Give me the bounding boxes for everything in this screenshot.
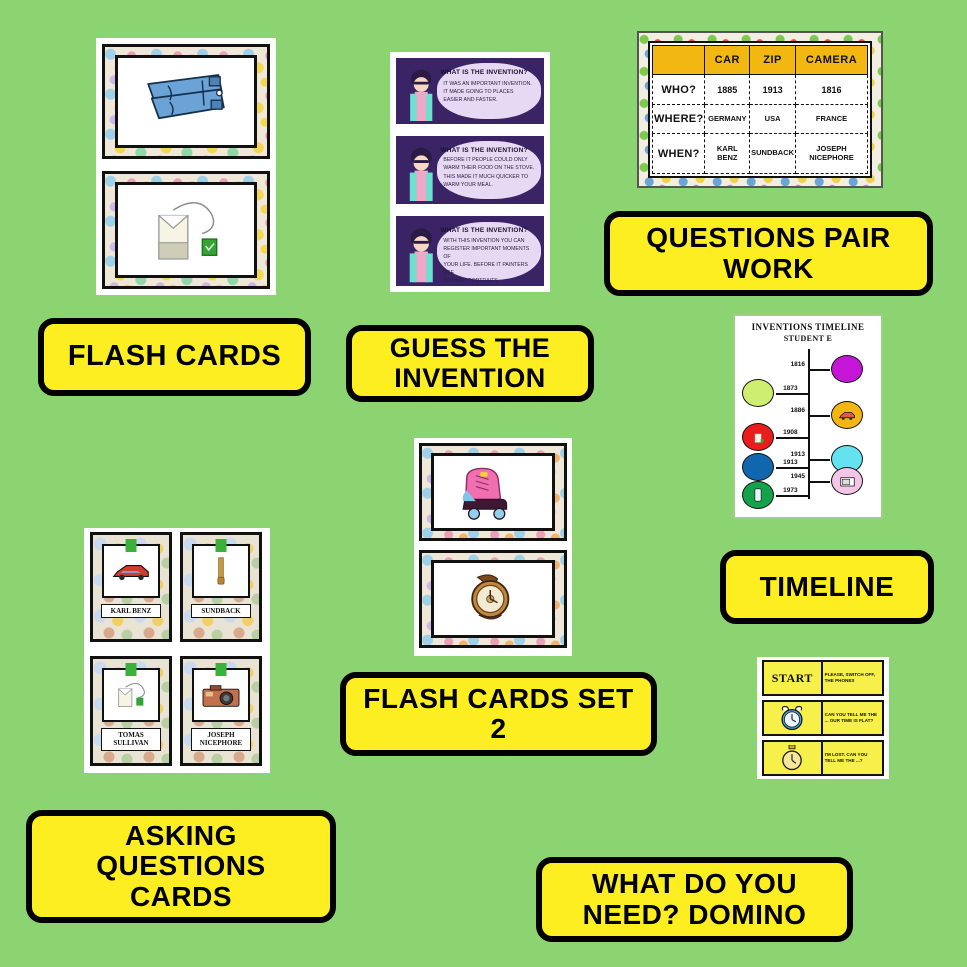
cell-when-camera: JOSEPH NICEPHORE [796, 134, 868, 174]
flash-card-jeans-image [115, 55, 257, 148]
timeline-tick [776, 393, 808, 395]
table-row: WHEN? KARL BENZ SUNDBACK JOSEPH NICEPHOR… [653, 134, 868, 174]
label-guess-invention-text: GUESS THE INVENTION [390, 334, 551, 392]
guess-card-3-heading: WHAT IS THE INVENTION? [440, 227, 538, 234]
cell-when-car: KARL BENZ [705, 134, 750, 174]
label-flash-cards-set2[interactable]: FLASH CARDS SET 2 [340, 672, 657, 756]
asking-card-karl-benz-label: KARL BENZ [101, 604, 160, 619]
camera-icon [201, 682, 241, 709]
guess-invention-sheet: WHAT IS THE INVENTION? IT WAS AN IMPORTA… [390, 52, 550, 292]
timeline-year-1886: 1886 [790, 407, 804, 414]
domino-right-watch: I'M LOST. CAN YOU TELL ME THE ...? [823, 742, 882, 774]
domino-alarm-text: CAN YOU TELL ME THE ... OUR TIME IS FLAT… [825, 712, 880, 724]
flash-card-jeans[interactable] [102, 44, 270, 159]
asking-card-sundback-label: SUNDBACK [191, 604, 250, 619]
asking-card-tomas-sullivan-image [102, 668, 160, 722]
flash-card-roller-skate[interactable] [419, 443, 567, 541]
clip-icon [126, 663, 137, 676]
row-label-when: WHEN? [653, 134, 705, 174]
asking-card-joseph-nicephore-label: JOSEPH NICEPHORE [191, 728, 250, 752]
table-row: WHO? 1885 1913 1816 [653, 75, 868, 104]
asking-questions-sheet: KARL BENZ SUNDBACK TOM [84, 528, 270, 773]
roller-skate-icon [450, 463, 536, 521]
timeline-tick [776, 495, 808, 497]
poster-canvas: WHAT IS THE INVENTION? IT WAS AN IMPORTA… [0, 0, 967, 967]
asking-card-joseph-nicephore-image [192, 668, 250, 722]
flash-card-teabag[interactable] [102, 171, 270, 289]
label-asking-questions-cards-text: ASKING QUESTIONS CARDS [96, 821, 265, 912]
wristwatch-icon [450, 570, 536, 628]
jeans-icon [127, 66, 245, 138]
table-row: WHERE? GERMANY USA FRANCE [653, 104, 868, 133]
cell-where-car: GERMANY [705, 104, 750, 133]
timeline-node-1913-left [742, 453, 774, 481]
alarm-clock-icon [778, 705, 806, 731]
scientist-icon [402, 224, 440, 283]
domino-row-start[interactable]: START PLEASE, SWITCH OFF, THE PHONES [762, 660, 884, 696]
flash-card-teabag-image [115, 182, 257, 278]
asking-card-joseph-nicephore[interactable]: JOSEPH NICEPHORE [180, 656, 262, 766]
guess-card-1-body: IT WAS AN IMPORTANT INVENTION. IT MADE G… [443, 80, 535, 104]
clip-icon [126, 539, 137, 552]
domino-row-alarm[interactable]: CAN YOU TELL ME THE ... OUR TIME IS FLAT… [762, 700, 884, 736]
cell-who-zip: 1913 [750, 75, 796, 104]
pocket-watch-icon [779, 745, 805, 771]
guess-card-2-body: BEFORE IT PEOPLE COULD ONLY WARM THEIR F… [443, 156, 535, 188]
flash-card-wristwatch[interactable] [419, 550, 567, 648]
timeline-node-1816 [831, 355, 863, 383]
guess-card-1[interactable]: WHAT IS THE INVENTION? IT WAS AN IMPORTA… [394, 56, 546, 126]
timeline-year-1816: 1816 [790, 361, 804, 368]
scientist-icon [402, 144, 440, 201]
domino-left-start: START [764, 662, 823, 694]
timeline-year-1908: 1908 [783, 429, 797, 436]
timeline-node-1873 [742, 379, 774, 407]
timeline-year-1913-right: 1913 [790, 451, 804, 458]
clip-icon [216, 539, 227, 552]
timeline-tick [808, 481, 830, 483]
label-flash-cards-text: FLASH CARDS [68, 341, 281, 372]
timeline-tick [776, 467, 808, 469]
flash-card-roller-skate-image [431, 453, 555, 531]
phone-icon [754, 488, 762, 502]
domino-watch-text: I'M LOST. CAN YOU TELL ME THE ...? [825, 752, 880, 764]
asking-card-karl-benz[interactable]: KARL BENZ [90, 532, 172, 642]
label-timeline[interactable]: TIMELINE [720, 550, 934, 624]
timeline-node-1908 [742, 423, 774, 451]
timeline-node-1973 [742, 481, 774, 509]
table-header-zip: ZIP [750, 46, 796, 75]
cell-when-zip: SUNDBACK [750, 134, 796, 174]
row-label-where: WHERE? [653, 104, 705, 133]
timeline-tick [776, 437, 808, 439]
domino-start-text: PLEASE, SWITCH OFF, THE PHONES [825, 672, 880, 684]
timeline-year-1973: 1973 [783, 487, 797, 494]
timeline-year-1913-left: 1913 [783, 459, 797, 466]
flash-card-wristwatch-image [431, 560, 555, 638]
car-icon [838, 410, 856, 421]
timeline-node-1945 [831, 467, 863, 495]
timeline-year-1873: 1873 [783, 385, 797, 392]
table-header-row: CAR ZIP CAMERA [653, 46, 868, 75]
label-domino[interactable]: WHAT DO YOU NEED? DOMINO [536, 857, 853, 942]
timeline-subtitle: STUDENT E [735, 334, 881, 343]
timeline-body: 1816 1873 1886 1908 [735, 349, 881, 501]
domino-right-alarm: CAN YOU TELL ME THE ... OUR TIME IS FLAT… [823, 702, 882, 734]
label-questions-pair-work[interactable]: QUESTIONS PAIR WORK [604, 211, 933, 296]
scientist-icon [402, 66, 440, 121]
guess-card-1-heading: WHAT IS THE INVENTION? [440, 69, 538, 76]
timeline-year-1945: 1945 [790, 473, 804, 480]
asking-card-tomas-sullivan-label: TOMAS SULLIVAN [101, 728, 160, 752]
flash-cards-set1-sheet [96, 38, 276, 295]
teabag-icon [128, 192, 244, 268]
domino-right-start: PLEASE, SWITCH OFF, THE PHONES [823, 662, 882, 694]
guess-card-2[interactable]: WHAT IS THE INVENTION? BEFORE IT PEOPLE … [394, 134, 546, 206]
row-label-who: WHO? [653, 75, 705, 104]
guess-card-2-heading: WHAT IS THE INVENTION? [440, 147, 538, 154]
label-timeline-text: TIMELINE [760, 572, 895, 602]
timeline-tick [808, 415, 830, 417]
cell-who-car: 1885 [705, 75, 750, 104]
label-guess-invention[interactable]: GUESS THE INVENTION [346, 325, 594, 402]
table-header-car: CAR [705, 46, 750, 75]
asking-card-tomas-sullivan[interactable]: TOMAS SULLIVAN [90, 656, 172, 766]
timeline-tick [808, 369, 830, 371]
questions-table: CAR ZIP CAMERA WHO? 1885 1913 1816 WHERE… [652, 45, 868, 174]
label-flash-cards[interactable]: FLASH CARDS [38, 318, 311, 396]
table-header-camera: CAMERA [796, 46, 868, 75]
asking-card-karl-benz-image [102, 544, 160, 598]
domino-left-alarm [764, 702, 823, 734]
flash-cards-set2-sheet [414, 438, 572, 656]
asking-card-sundback[interactable]: SUNDBACK [180, 532, 262, 642]
asking-card-sundback-image [192, 544, 250, 598]
cell-where-zip: USA [750, 104, 796, 133]
domino-left-watch [764, 742, 823, 774]
timeline-title: INVENTIONS TIMELINE [735, 322, 881, 332]
teabag-icon [752, 431, 765, 444]
clip-icon [216, 663, 227, 676]
label-asking-questions-cards[interactable]: ASKING QUESTIONS CARDS [26, 810, 336, 923]
cell-where-camera: FRANCE [796, 104, 868, 133]
guess-card-3-body: WITH THIS INVENTION YOU CAN REGISTER IMP… [443, 237, 535, 285]
car-icon [111, 560, 151, 582]
label-flash-cards-set2-text: FLASH CARDS SET 2 [363, 684, 633, 744]
microwave-icon [840, 476, 855, 487]
timeline-node-1886 [831, 401, 863, 429]
timeline-axis [808, 349, 810, 499]
label-domino-text: WHAT DO YOU NEED? DOMINO [583, 869, 807, 929]
label-questions-pair-work-text: QUESTIONS PAIR WORK [646, 223, 891, 283]
domino-sheet: START PLEASE, SWITCH OFF, THE PHONES CAN… [757, 657, 889, 779]
questions-pair-work-sheet[interactable]: CAR ZIP CAMERA WHO? 1885 1913 1816 WHERE… [637, 31, 883, 188]
table-header-blank [653, 46, 705, 75]
domino-row-watch[interactable]: I'M LOST. CAN YOU TELL ME THE ...? [762, 740, 884, 776]
teabag-icon [113, 680, 149, 710]
zipper-icon [214, 554, 228, 588]
timeline-tick [808, 459, 830, 461]
guess-card-3[interactable]: WHAT IS THE INVENTION? WITH THIS INVENTI… [394, 214, 546, 288]
cell-who-camera: 1816 [796, 75, 868, 104]
inventions-timeline-sheet[interactable]: INVENTIONS TIMELINE STUDENT E 1816 1873 … [733, 314, 883, 519]
domino-start-label: START [772, 671, 813, 686]
